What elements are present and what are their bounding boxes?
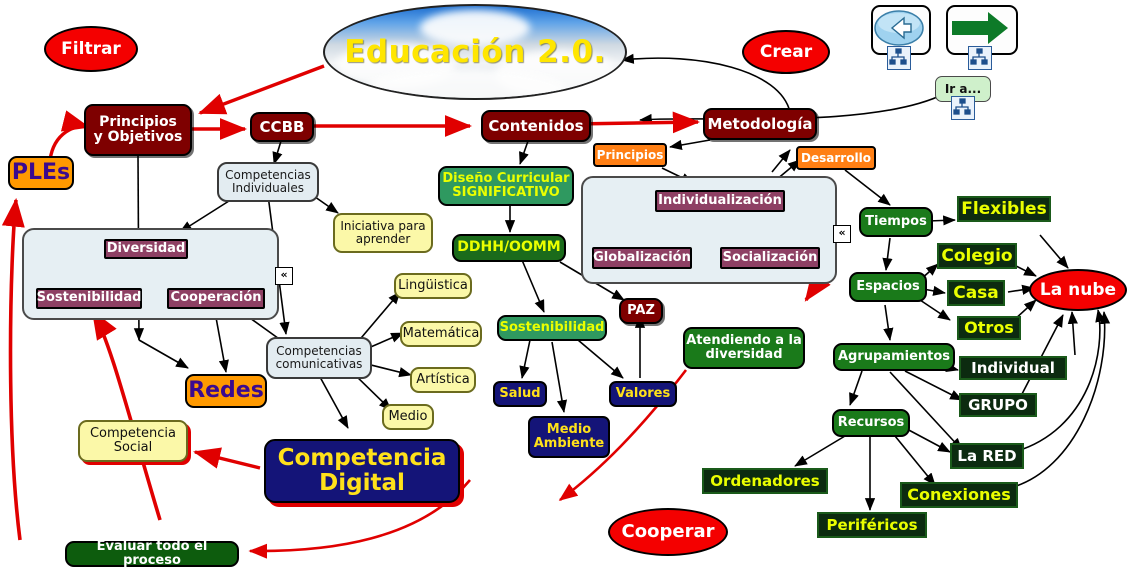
node-cooperacion[interactable]: Cooperación	[167, 288, 265, 309]
node-label-line1: Atendiendo a la	[686, 334, 801, 348]
node-artistica[interactable]: Artística	[410, 367, 476, 393]
node-label-line2: y Objetivos	[94, 130, 183, 145]
page-title: Educación 2.0.	[325, 6, 625, 98]
node-contenidos[interactable]: Contenidos	[481, 110, 591, 142]
node-la-red[interactable]: La RED	[950, 443, 1024, 469]
node-espacios[interactable]: Espacios	[849, 272, 927, 302]
node-colegio[interactable]: Colegio	[937, 243, 1017, 269]
node-desarrollo[interactable]: Desarrollo	[796, 146, 876, 170]
node-evaluar-todo-el-proceso[interactable]: Evaluar todo el proceso	[65, 541, 239, 567]
back-arrow-icon	[873, 7, 925, 49]
node-ccbb[interactable]: CCBB	[250, 112, 314, 142]
node-perifericos[interactable]: Periféricos	[817, 512, 927, 538]
action-cooperar[interactable]: Cooperar	[608, 508, 728, 556]
node-label-line2: Social	[114, 441, 153, 455]
node-label-line1: Competencia	[278, 446, 447, 471]
node-paz[interactable]: PAZ	[619, 298, 663, 324]
action-crear[interactable]: Crear	[742, 30, 830, 74]
node-sostenibilidad-green[interactable]: Sostenibilidad	[497, 315, 607, 341]
node-medio[interactable]: Medio	[382, 404, 434, 430]
node-label-line1: Principios	[99, 115, 177, 130]
node-metodologia[interactable]: Metodología	[703, 108, 817, 140]
node-diversidad[interactable]: Diversidad	[104, 239, 188, 259]
node-matematica[interactable]: Matemática	[400, 321, 482, 347]
node-ples[interactable]: PLEs	[8, 156, 74, 190]
node-ordenadores[interactable]: Ordenadores	[702, 468, 828, 494]
title-ellipse[interactable]: Educación 2.0.	[323, 4, 627, 100]
node-ddhh-oomm[interactable]: DDHH/OOMM	[452, 234, 566, 262]
node-label-line2: Ambiente	[534, 437, 604, 451]
node-label-line2: comunicativas	[276, 358, 363, 371]
node-flexibles[interactable]: Flexibles	[957, 196, 1051, 222]
node-otros[interactable]: Otros	[957, 316, 1021, 340]
node-atendiendo-a-la-diversidad[interactable]: Atendiendo a la diversidad	[683, 327, 805, 369]
node-label-line2: SIGNIFICATIVO	[452, 186, 560, 200]
node-linguistica[interactable]: Lingüistica	[394, 273, 472, 299]
node-tiempos[interactable]: Tiempos	[859, 207, 933, 237]
node-la-nube[interactable]: La nube	[1029, 269, 1127, 311]
forward-map-badge-icon[interactable]	[968, 46, 992, 70]
node-competencias-comunicativas[interactable]: Competencias comunicativas	[266, 337, 372, 379]
node-agrupamientos[interactable]: Agrupamientos	[833, 343, 955, 371]
node-globalizacion[interactable]: Globalización	[592, 247, 692, 269]
action-filtrar[interactable]: Filtrar	[44, 26, 138, 72]
node-salud[interactable]: Salud	[493, 381, 547, 407]
node-principios-y-objetivos[interactable]: Principios y Objetivos	[84, 104, 192, 156]
node-principios-orange[interactable]: Principios	[593, 143, 667, 167]
forward-arrow-icon	[948, 7, 1012, 49]
node-iniciativa-para-aprender[interactable]: Iniciativa para aprender	[333, 213, 433, 253]
node-valores[interactable]: Valores	[609, 381, 677, 407]
node-recursos[interactable]: Recursos	[832, 409, 910, 437]
node-diseno-curricular[interactable]: Diseño Curricular SIGNIFICATIVO	[438, 166, 574, 206]
node-grupo[interactable]: GRUPO	[959, 393, 1037, 417]
node-label-line2: aprender	[356, 233, 411, 246]
node-label-line2: diversidad	[705, 348, 782, 362]
node-conexiones[interactable]: Conexiones	[900, 482, 1018, 508]
collapse-marker-right[interactable]: «	[833, 225, 851, 243]
node-label-line1: Competencia	[90, 427, 176, 441]
node-redes[interactable]: Redes	[185, 374, 267, 408]
collapse-marker-left[interactable]: «	[275, 267, 293, 285]
node-competencias-individuales[interactable]: Competencias Individuales	[217, 162, 319, 202]
node-socializacion[interactable]: Socialización	[720, 247, 820, 269]
back-map-badge-icon[interactable]	[887, 46, 911, 70]
node-competencia-digital[interactable]: Competencia Digital	[264, 439, 460, 503]
node-label-line1: Medio	[547, 423, 591, 437]
node-individualizacion[interactable]: Individualización	[655, 190, 785, 212]
node-casa[interactable]: Casa	[947, 280, 1005, 306]
node-label-line2: Digital	[319, 471, 405, 496]
node-competencia-social[interactable]: Competencia Social	[78, 420, 188, 462]
node-sostenibilidad-plum[interactable]: Sostenibilidad	[36, 288, 142, 309]
node-label-line2: Individuales	[232, 182, 304, 195]
node-label-line1: Diseño Curricular	[442, 172, 569, 186]
goto-map-badge-icon[interactable]	[951, 96, 975, 120]
node-individual[interactable]: Individual	[959, 356, 1067, 380]
node-medio-ambiente[interactable]: Medio Ambiente	[528, 416, 610, 458]
concept-map-canvas: Educación 2.0. Filtrar Crear Cooperar Ir…	[0, 0, 1131, 573]
